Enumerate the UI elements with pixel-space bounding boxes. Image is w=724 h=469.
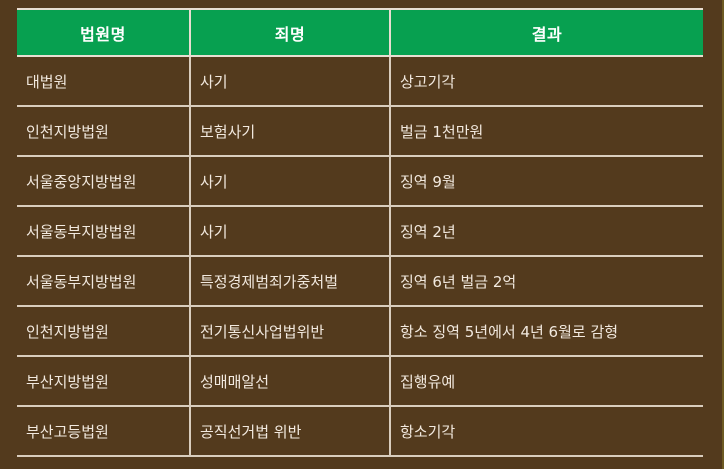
table-row: 서울중앙지방법원사기징역 9월 <box>17 156 703 206</box>
table-cell-charge: 특정경제범죄가중처벌 <box>190 256 390 306</box>
table-cell-charge: 사기 <box>190 206 390 256</box>
table-cell-court: 부산고등법원 <box>17 406 190 456</box>
table-row: 대법원사기상고기각 <box>17 56 703 106</box>
table-cell-court: 서울동부지방법원 <box>17 206 190 256</box>
table-cell-result: 항소 징역 5년에서 4년 6월로 감형 <box>390 306 703 356</box>
column-header-charge: 죄명 <box>190 9 390 56</box>
table-cell-result: 상고기각 <box>390 56 703 106</box>
table-cell-court: 대법원 <box>17 56 190 106</box>
table-cell-court: 서울동부지방법원 <box>17 256 190 306</box>
table-cell-result: 징역 6년 벌금 2억 <box>390 256 703 306</box>
column-header-court: 법원명 <box>17 9 190 56</box>
table-cell-charge: 공직선거법 위반 <box>190 406 390 456</box>
table-cell-court: 인천지방법원 <box>17 306 190 356</box>
table-row: 부산고등법원공직선거법 위반항소기각 <box>17 406 703 456</box>
table-cell-result: 징역 9월 <box>390 156 703 206</box>
table-row: 부산지방법원성매매알선집행유예 <box>17 356 703 406</box>
table-header-row: 법원명 죄명 결과 <box>17 9 703 56</box>
table-cell-charge: 보험사기 <box>190 106 390 156</box>
table-cell-charge: 사기 <box>190 156 390 206</box>
table-cell-court: 부산지방법원 <box>17 356 190 406</box>
table-cell-charge: 성매매알선 <box>190 356 390 406</box>
table-cell-charge: 사기 <box>190 56 390 106</box>
table-cell-court: 서울중앙지방법원 <box>17 156 190 206</box>
verdict-table: 법원명 죄명 결과 대법원사기상고기각인천지방법원보험사기벌금 1천만원서울중앙… <box>17 8 703 457</box>
table-cell-result: 벌금 1천만원 <box>390 106 703 156</box>
table-row: 서울동부지방법원특정경제범죄가중처벌징역 6년 벌금 2억 <box>17 256 703 306</box>
table-cell-result: 항소기각 <box>390 406 703 456</box>
column-header-result: 결과 <box>390 9 703 56</box>
table-row: 인천지방법원보험사기벌금 1천만원 <box>17 106 703 156</box>
table-cell-charge: 전기통신사업법위반 <box>190 306 390 356</box>
table-cell-result: 집행유예 <box>390 356 703 406</box>
table-cell-court: 인천지방법원 <box>17 106 190 156</box>
table-row: 서울동부지방법원사기징역 2년 <box>17 206 703 256</box>
table-cell-result: 징역 2년 <box>390 206 703 256</box>
table-header: 법원명 죄명 결과 <box>17 9 703 56</box>
table-body: 대법원사기상고기각인천지방법원보험사기벌금 1천만원서울중앙지방법원사기징역 9… <box>17 56 703 456</box>
table-row: 인천지방법원전기통신사업법위반항소 징역 5년에서 4년 6월로 감형 <box>17 306 703 356</box>
